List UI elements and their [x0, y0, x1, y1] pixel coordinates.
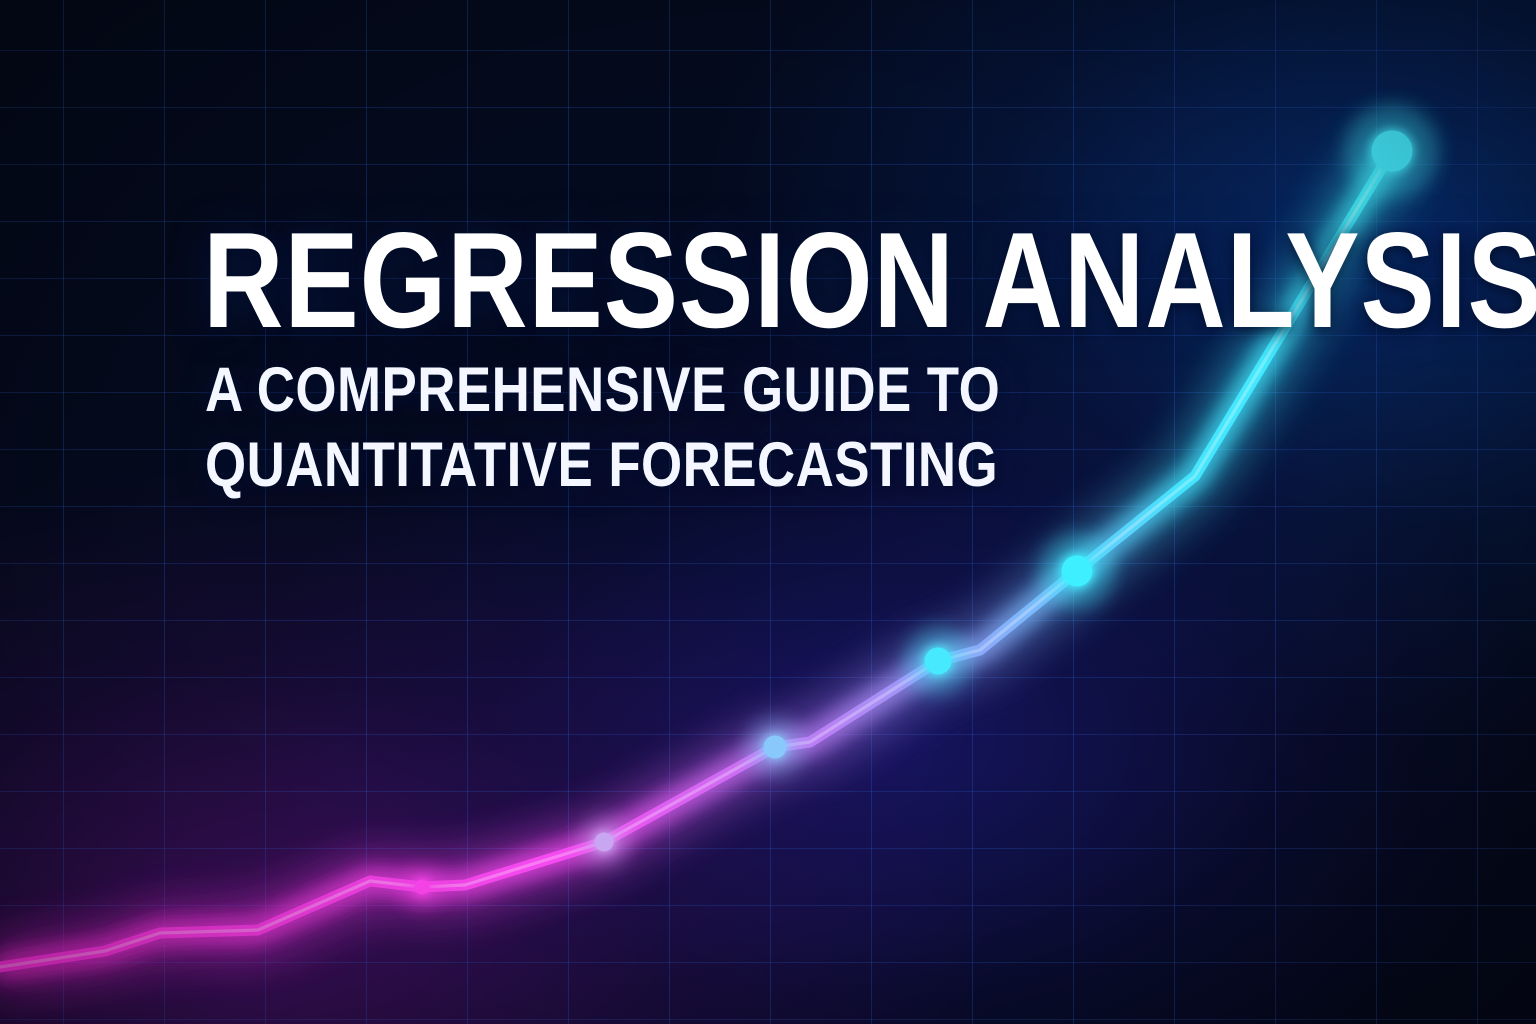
- chart-data-point-core: [764, 736, 787, 759]
- page-title: REGRESSION ANALYSIS: [203, 222, 1154, 339]
- chart-data-point-core: [925, 648, 952, 675]
- poster-canvas: REGRESSION ANALYSIS A COMPREHENSIVE GUID…: [0, 0, 1536, 1024]
- chart-data-point-core: [415, 880, 430, 895]
- poster-text-block: REGRESSION ANALYSIS A COMPREHENSIVE GUID…: [203, 222, 1363, 503]
- chart-data-point-core: [1372, 131, 1413, 172]
- chart-data-point-core: [595, 833, 614, 852]
- chart-data-point-core: [1062, 556, 1093, 587]
- growth-line-chart: [0, 0, 1536, 1024]
- page-subtitle: A COMPREHENSIVE GUIDE TO QUANTITATIVE FO…: [205, 353, 1178, 503]
